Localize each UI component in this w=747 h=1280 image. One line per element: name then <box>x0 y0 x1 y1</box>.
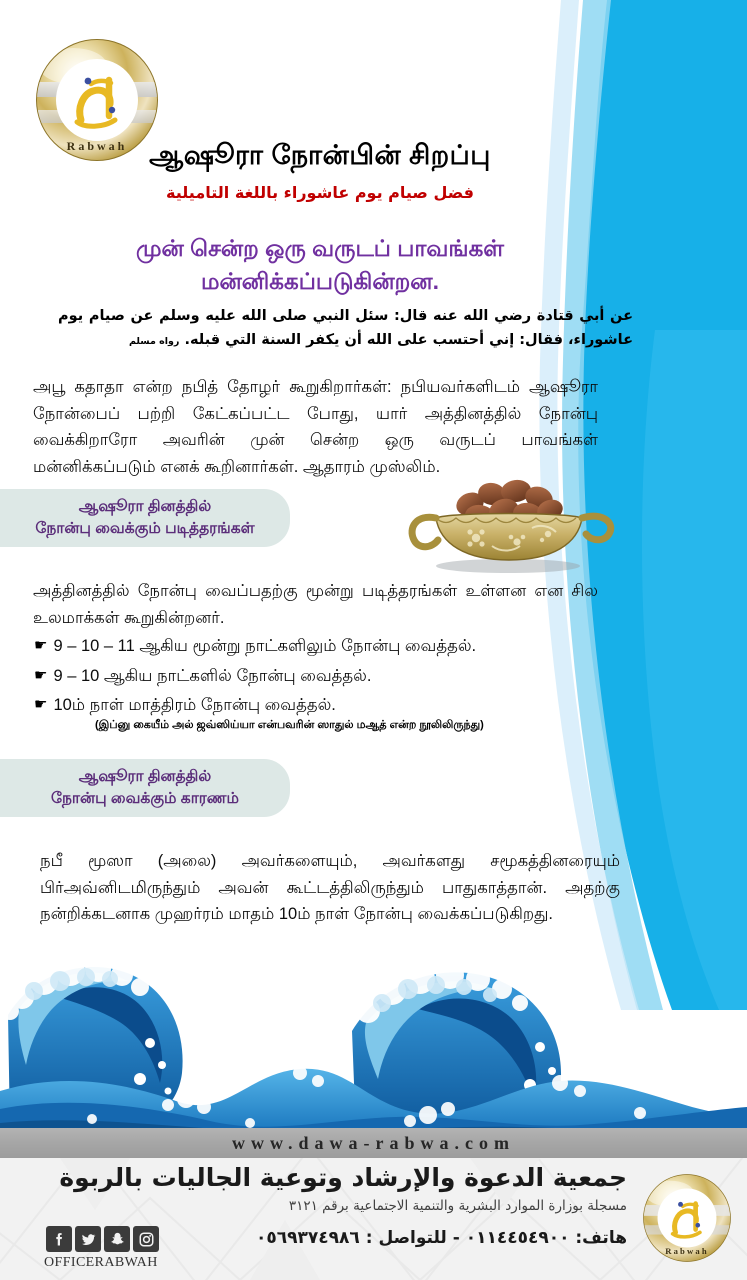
levels-source-note: (இப்னு கையீம் அல் ஜவ்ஸிய்யா என்பவரின் ஸா… <box>95 718 615 732</box>
reason-paragraph: நபீ மூஸா (அலை) அவர்களையும், அவர்களது சமூ… <box>40 848 620 928</box>
pointing-hand-icon: ☛ <box>34 664 47 687</box>
hadith-arabic: عن أبي قتادة رضي الله عنه قال: سئل النبي… <box>58 305 633 353</box>
highlight-line-2: மன்னிக்கப்படுகின்றன. <box>0 265 640 298</box>
list-item-label: 9 – 10 ஆகிய நாட்களில் நோன்பு வைத்தல். <box>53 664 371 690</box>
footer-contact-numbers: هاتف: ٠١١٤٤٥٤٩٠٠ - للتواصل : ٠٥٦٩٣٧٤٩٨٦ <box>157 1228 627 1248</box>
pointing-hand-icon: ☛ <box>34 693 47 716</box>
social-links[interactable] <box>46 1226 159 1252</box>
section-levels-line-2: நோன்பு வைக்கும் படித்தரங்கள் <box>35 518 254 540</box>
pointing-hand-icon: ☛ <box>34 634 47 657</box>
page-title: ஆஷூரா நோன்பின் சிறப்பு <box>0 140 640 171</box>
section-reason-line-1: ஆஷூரா தினத்தில் <box>79 766 212 788</box>
section-reason-line-2: நோன்பு வைக்கும் காரணம் <box>51 788 239 810</box>
list-item: ☛ 9 – 10 – 11 ஆகிய மூன்று நாட்களிலும் நோ… <box>34 634 614 660</box>
list-item: ☛ 9 – 10 ஆகிய நாட்களில் நோன்பு வைத்தல். <box>34 664 614 690</box>
ocean-waves-graphic <box>0 923 747 1138</box>
facebook-icon[interactable] <box>46 1226 72 1252</box>
list-item-label: 9 – 10 – 11 ஆகிய மூன்று நாட்களிலும் நோன்… <box>53 634 476 660</box>
page-subtitle-arabic: فضل صيام يوم عاشوراء باللغة التاميلية <box>0 183 640 204</box>
dates-bowl-image <box>392 462 624 574</box>
list-item: ☛ 10ம் நாள் மாத்திரம் நோன்பு வைத்தல். <box>34 693 614 719</box>
twitter-icon[interactable] <box>75 1226 101 1252</box>
poster-canvas: Rabwah ஆஷூரா நோன்பின் சிறப்பு فضل صيام ي… <box>0 0 747 1280</box>
highlight-line-1: முன் சென்ற ஒரு வருடப் பாவங்கள் <box>0 232 640 265</box>
section-heading-reason: ஆஷூரா தினத்தில் நோன்பு வைக்கும் காரணம் <box>0 759 290 817</box>
footer-logo-caption: Rabwah <box>665 1246 709 1256</box>
footer: جمعية الدعوة والإرشاد وتوعية الجاليات با… <box>0 1158 747 1280</box>
website-url-bar[interactable]: www.dawa-rabwa.com <box>0 1128 747 1158</box>
levels-paragraph: அத்தினத்தில் நோன்பு வைப்பதற்கு மூன்று பட… <box>33 578 598 631</box>
website-url[interactable]: www.dawa-rabwa.com <box>232 1133 515 1154</box>
snapchat-icon[interactable] <box>104 1226 130 1252</box>
section-levels-line-1: ஆஷூரா தினத்தில் <box>79 496 212 518</box>
hadith-source: رواه مسلم <box>129 336 179 347</box>
footer-organization-name: جمعية الدعوة والإرشاد وتوعية الجاليات با… <box>67 1164 627 1192</box>
footer-registration-line: مسجلة بوزارة الموارد البشرية والتنمية ال… <box>67 1198 627 1214</box>
instagram-icon[interactable] <box>133 1226 159 1252</box>
list-item-label: 10ம் நாள் மாத்திரம் நோன்பு வைத்தல். <box>53 693 335 719</box>
section-heading-levels: ஆஷூரா தினத்தில் நோன்பு வைக்கும் படித்தரங… <box>0 489 290 547</box>
highlight-heading: முன் சென்ற ஒரு வருடப் பாவங்கள் மன்னிக்கப… <box>0 232 640 299</box>
title-block: ஆஷூரா நோன்பின் சிறப்பு فضل صيام يوم عاشو… <box>0 140 640 204</box>
footer-rabwah-logo: Rabwah <box>641 1172 733 1264</box>
levels-bullet-list: ☛ 9 – 10 – 11 ஆகிய மூன்று நாட்களிலும் நோ… <box>34 634 614 723</box>
social-handle: OFFICERABWAH <box>44 1255 158 1271</box>
